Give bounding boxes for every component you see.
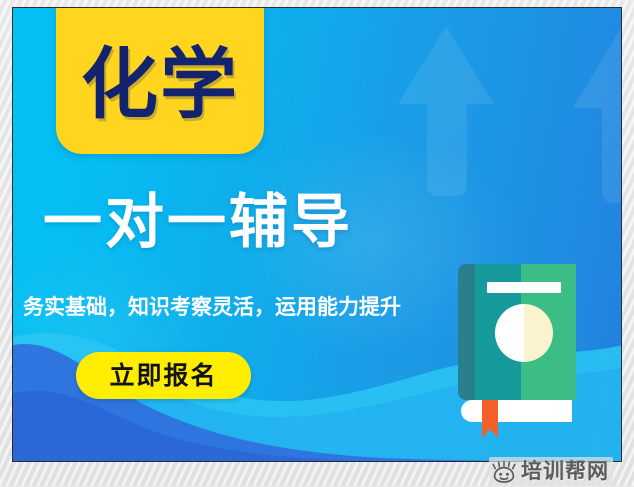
- enroll-now-button[interactable]: 立即报名: [76, 352, 251, 399]
- promo-banner: 化学 一对一辅导 务实基础，知识考察灵活，运用能力提升 立即报名: [12, 7, 622, 462]
- subject-badge: 化学: [56, 7, 264, 154]
- watermark: 培训帮网: [489, 457, 613, 486]
- sun-smile-icon: [492, 461, 516, 483]
- book-icon: [458, 254, 580, 439]
- subject-badge-label: 化学: [81, 37, 239, 124]
- arrow-up-icon: [573, 28, 622, 203]
- page-title: 一对一辅导: [43, 192, 353, 251]
- subtitle-text: 务实基础，知识考察灵活，运用能力提升: [23, 297, 401, 318]
- enroll-now-label: 立即报名: [109, 363, 217, 388]
- watermark-label: 培训帮网: [521, 461, 609, 482]
- arrow-up-icon: [398, 26, 494, 196]
